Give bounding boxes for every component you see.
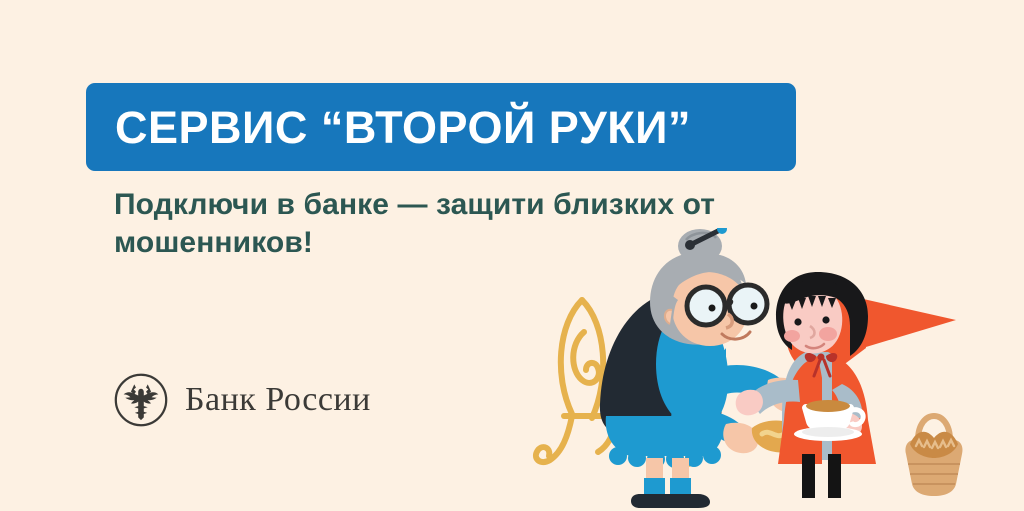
bank-of-russia-logo: Банк России <box>113 372 371 428</box>
poster-canvas: СЕРВИС “ВТОРОЙ РУКИ” Подключи в банке — … <box>0 0 1024 511</box>
wicker-basket <box>905 416 962 496</box>
bank-name-label: Банк России <box>185 383 371 417</box>
double-headed-eagle-icon <box>113 372 169 428</box>
illustration-scene <box>520 228 1024 511</box>
title-banner: СЕРВИС “ВТОРОЙ РУКИ” <box>86 83 796 171</box>
page-title: СЕРВИС “ВТОРОЙ РУКИ” <box>115 105 691 150</box>
